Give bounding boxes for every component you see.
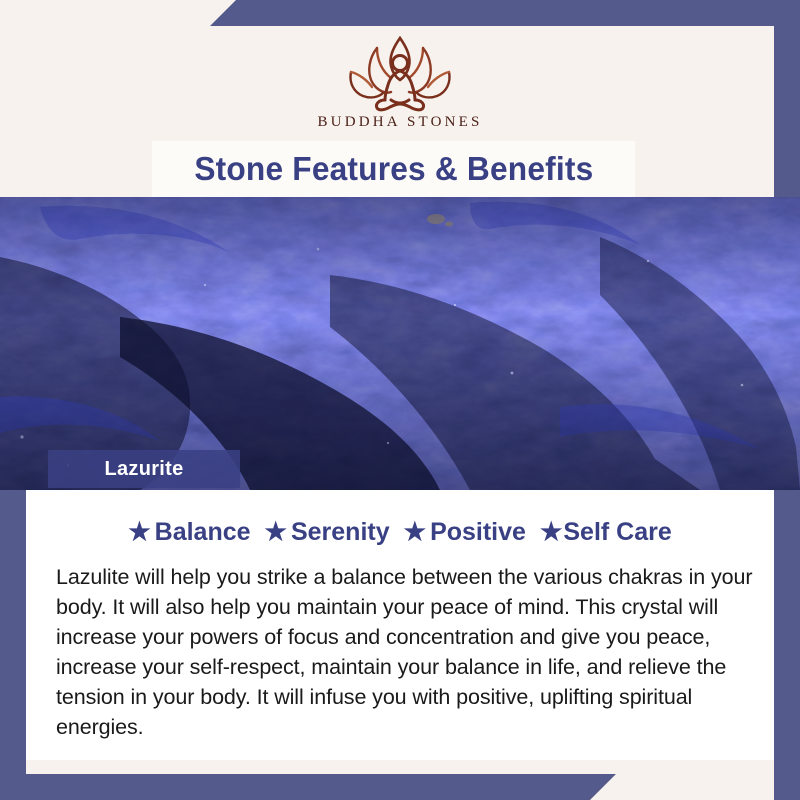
keyword-label: Balance bbox=[155, 518, 251, 547]
keyword-item: ★ Self Care bbox=[540, 518, 672, 547]
keyword-list: ★ Balance ★ Serenity ★ Positive ★ Self C… bbox=[26, 518, 774, 547]
frame-band-bottom bbox=[0, 774, 616, 800]
frame-band-top bbox=[210, 0, 800, 26]
brand-name: BUDDHA STONES bbox=[317, 114, 482, 131]
stone-photo-image bbox=[0, 197, 800, 490]
star-icon: ★ bbox=[128, 520, 150, 545]
title-banner: Stone Features & Benefits bbox=[152, 141, 635, 197]
stone-name: Lazurite bbox=[104, 458, 183, 481]
stone-description: Lazulite will help you strike a balance … bbox=[56, 562, 756, 742]
keyword-label: Self Care bbox=[563, 518, 671, 547]
frame-band-left bbox=[0, 470, 26, 800]
page-title: Stone Features & Benefits bbox=[194, 150, 593, 188]
keyword-item: ★ Balance bbox=[128, 518, 250, 547]
brand-logo: BUDDHA STONES bbox=[26, 26, 774, 131]
stone-photo bbox=[0, 197, 800, 490]
keyword-item: ★ Serenity bbox=[265, 518, 390, 547]
star-icon: ★ bbox=[404, 520, 426, 545]
infographic-card: BUDDHA STONES Stone Features & Benefits bbox=[0, 0, 800, 800]
lotus-meditation-icon bbox=[325, 30, 475, 112]
keyword-label: Positive bbox=[430, 518, 526, 547]
star-icon: ★ bbox=[540, 520, 562, 545]
stone-name-banner: Lazurite bbox=[48, 450, 240, 488]
star-icon: ★ bbox=[265, 520, 287, 545]
keyword-item: ★ Positive bbox=[404, 518, 526, 547]
content-panel: ★ Balance ★ Serenity ★ Positive ★ Self C… bbox=[26, 490, 774, 760]
keyword-label: Serenity bbox=[291, 518, 390, 547]
